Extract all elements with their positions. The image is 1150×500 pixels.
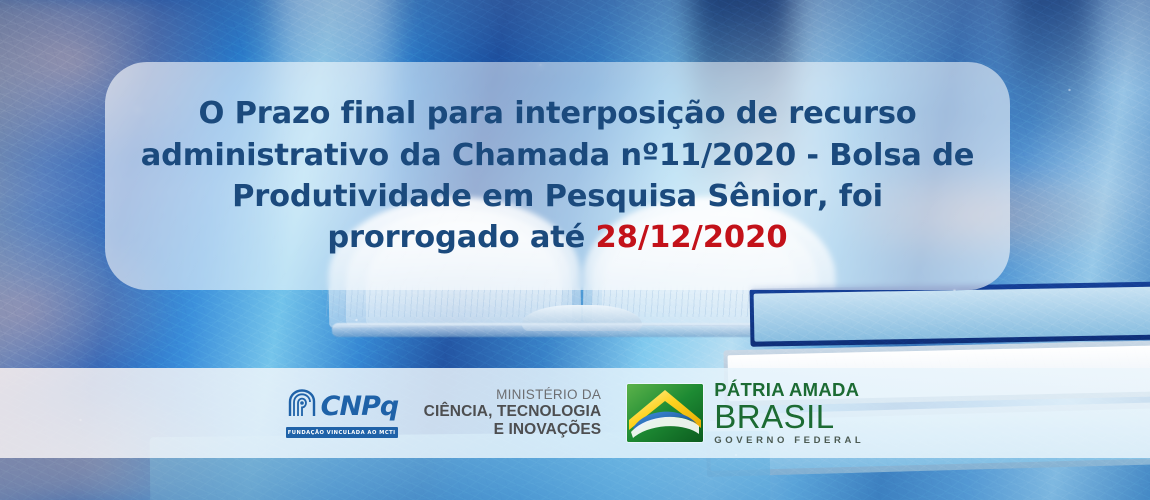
cnpq-logo[interactable]: CNPq FUNDAÇÃO VINCULADA AO MCTI: [286, 387, 398, 439]
bottom-edge-strip: [0, 458, 1150, 500]
brasil-line-brasil: BRASIL: [714, 400, 864, 433]
ministry-line-2: CIÊNCIA, TECNOLOGIA: [424, 403, 602, 421]
announcement-banner: O Prazo final para interposição de recur…: [0, 0, 1150, 500]
cnpq-head-icon: [286, 388, 318, 424]
governo-federal-logo[interactable]: PÁTRIA AMADA BRASIL GOVERNO FEDERAL: [627, 381, 864, 446]
footer-logo-band: CNPq FUNDAÇÃO VINCULADA AO MCTI MINISTÉR…: [0, 368, 1150, 458]
brasil-line-governo-federal: GOVERNO FEDERAL: [714, 436, 864, 446]
ministry-line-3: E INOVAÇÕES: [424, 421, 602, 439]
cnpq-wordmark: CNPq: [321, 393, 399, 420]
cnpq-tagline-bar: FUNDAÇÃO VINCULADA AO MCTI: [286, 427, 398, 438]
brasil-line-patria-amada: PÁTRIA AMADA: [714, 381, 864, 400]
message-panel: O Prazo final para interposição de recur…: [105, 62, 1010, 290]
ministry-line-1: MINISTÉRIO DA: [424, 387, 602, 403]
announcement-headline: O Prazo final para interposição de recur…: [133, 93, 983, 259]
ministry-logo[interactable]: MINISTÉRIO DA CIÊNCIA, TECNOLOGIA E INOV…: [424, 387, 602, 439]
brazil-flag-icon: [627, 384, 703, 442]
cnpq-tagline: FUNDAÇÃO VINCULADA AO MCTI: [288, 430, 396, 436]
deadline-date: 28/12/2020: [596, 220, 788, 255]
